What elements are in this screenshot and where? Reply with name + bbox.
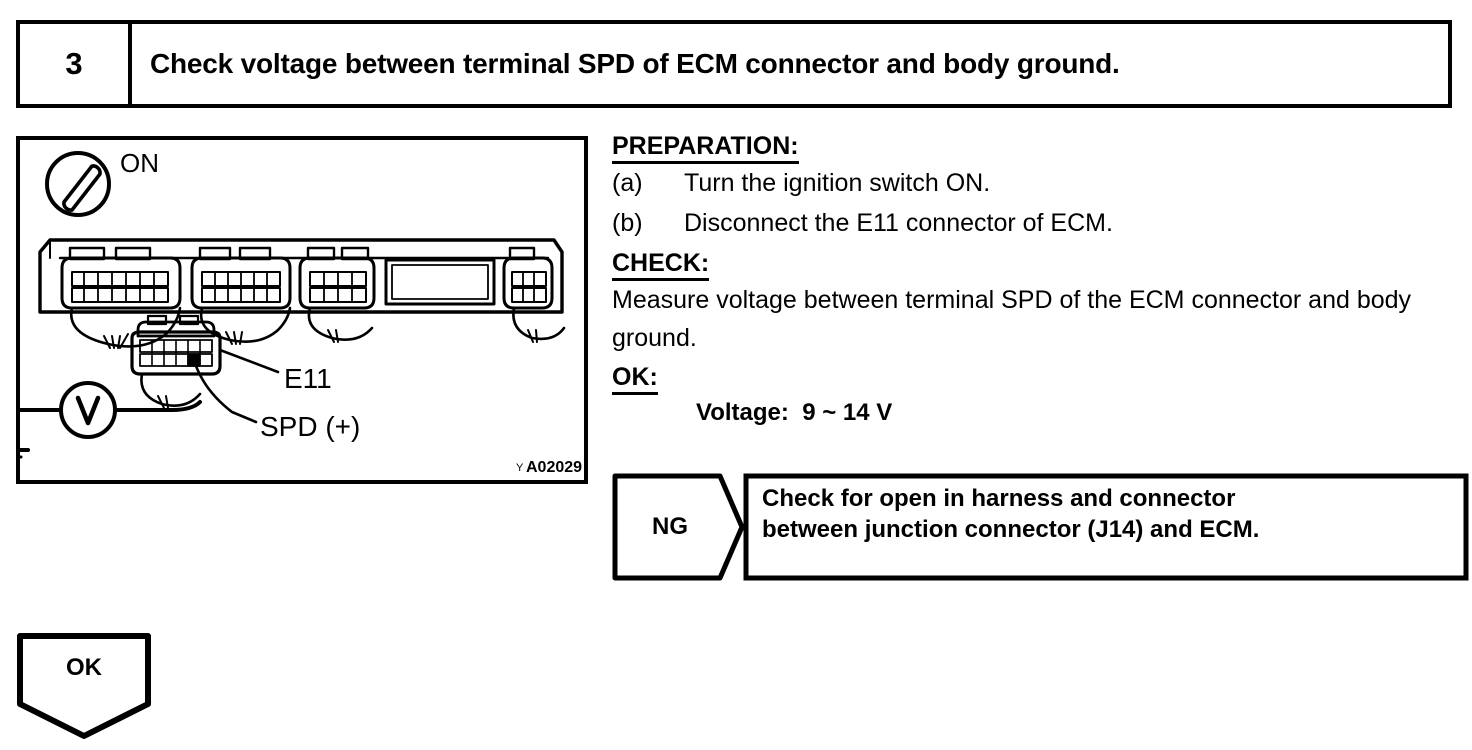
spd-label: SPD (+) [260, 411, 360, 442]
spd-terminal-highlight [188, 354, 200, 366]
ng-action-text-line1: Check for open in harness and connector [762, 484, 1452, 515]
check-text: Measure voltage between terminal SPD of … [612, 281, 1468, 357]
ng-branch: NG Check for open in harness and connect… [612, 472, 1470, 584]
preparation-step-a-label: (a) [612, 164, 684, 204]
ignition-on-label: ON [120, 148, 159, 178]
connector-2 [192, 248, 290, 344]
ok-voltage-value: Voltage: 9 ~ 14 V [696, 395, 1468, 431]
ok-branch: OK [16, 632, 166, 742]
illustration-panel: ON E11 SPD (+) Y A02029 [16, 136, 588, 484]
e11-label: E11 [284, 363, 332, 394]
step-number: 3 [65, 46, 82, 82]
instructions-column: PREPARATION: (a) Turn the ignition switc… [612, 132, 1468, 433]
check-section: CHECK: Measure voltage between terminal … [612, 249, 1468, 357]
preparation-step-b-text: Disconnect the E11 connector of ECM. [684, 204, 1113, 244]
step-title: Check voltage between terminal SPD of EC… [150, 48, 1120, 80]
preparation-step-a-text: Turn the ignition switch ON. [684, 164, 990, 204]
ground-symbol [20, 420, 28, 463]
check-heading: CHECK: [612, 249, 709, 281]
connector-3 [300, 248, 374, 342]
preparation-heading: PREPARATION: [612, 132, 799, 164]
preparation-step-b: (b) Disconnect the E11 connector of ECM. [612, 204, 1468, 244]
voltmeter [61, 383, 115, 437]
preparation-step-b-label: (b) [612, 204, 684, 244]
ecm-connector-diagram: ON E11 SPD (+) Y A02029 [20, 140, 584, 480]
figure-code-prefix: Y [516, 462, 524, 474]
step-header-box: 3 Check voltage between terminal SPD of … [16, 20, 1452, 108]
preparation-section: PREPARATION: (a) Turn the ignition switc… [612, 132, 1468, 243]
e11-leader-line [220, 350, 278, 372]
ignition-switch-icon [47, 153, 109, 215]
ok-branch-shape [16, 632, 166, 742]
ok-section: OK: Voltage: 9 ~ 14 V [612, 363, 1468, 431]
ok-pentagon [20, 636, 148, 736]
ok-heading: OK: [612, 363, 658, 395]
blank-slot [386, 260, 494, 304]
ng-action-text-line2: between junction connector (J14) and ECM… [762, 515, 1452, 546]
preparation-step-a: (a) Turn the ignition switch ON. [612, 164, 1468, 204]
ng-action-text: Check for open in harness and connector … [762, 484, 1452, 545]
step-number-cell: 3 [20, 24, 132, 104]
ok-label: OK [16, 654, 152, 682]
figure-code: A02029 [526, 459, 582, 476]
step-title-cell: Check voltage between terminal SPD of EC… [132, 24, 1448, 104]
connector-4 [504, 248, 564, 342]
ng-label: NG [612, 472, 728, 582]
